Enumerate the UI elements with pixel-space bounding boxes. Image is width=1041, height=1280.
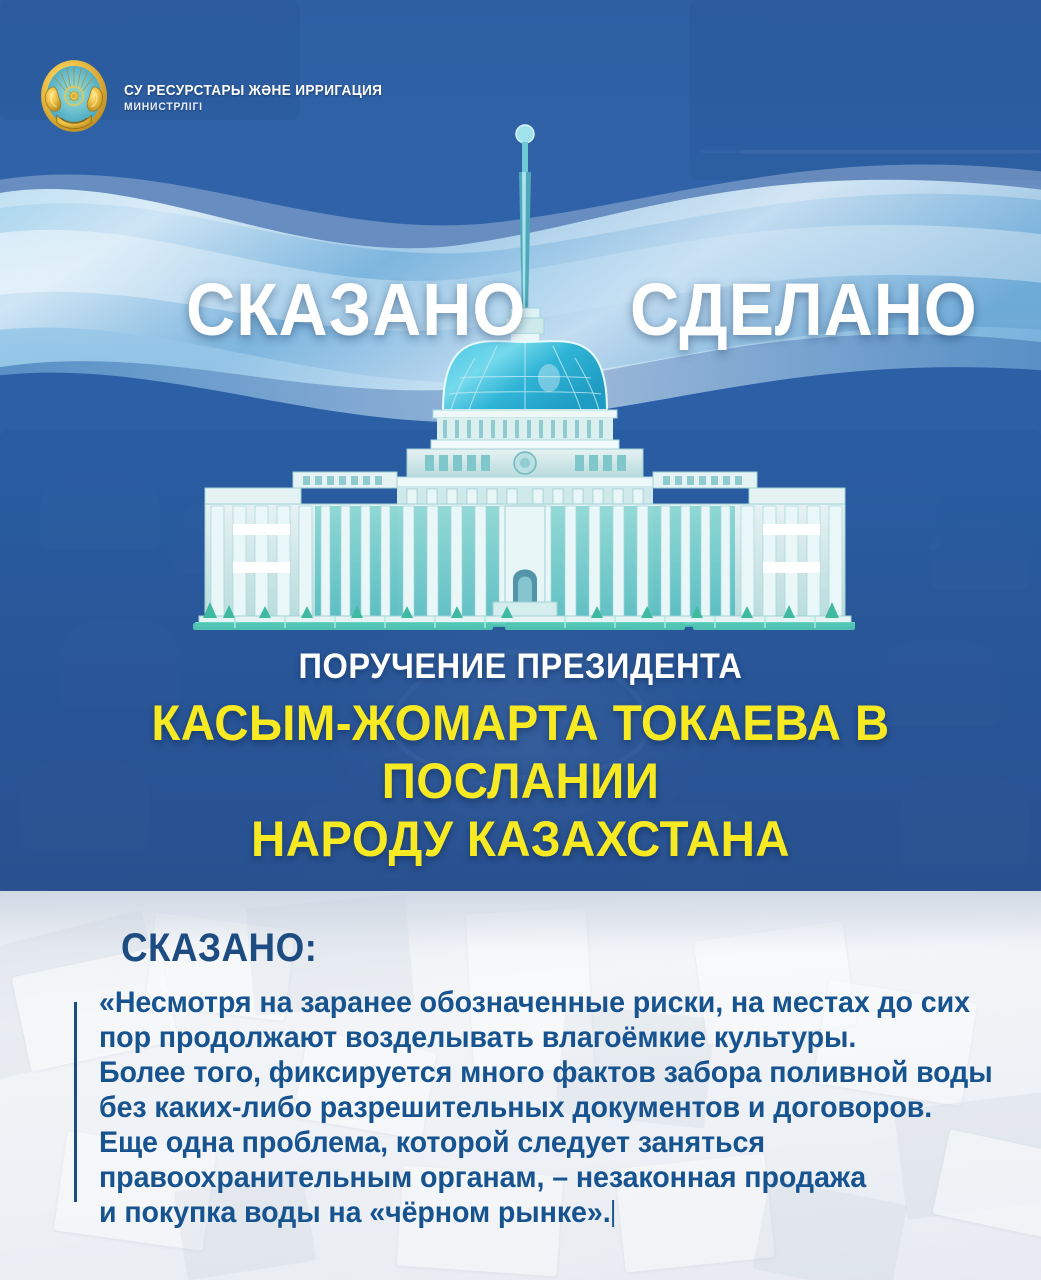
quote-line-last: и покупка воды на «чёрном рынке». xyxy=(99,1195,991,1230)
kazakhstan-coat-of-arms-icon xyxy=(38,58,110,134)
quote-line: без каких-либо разрешительных документов… xyxy=(99,1090,991,1125)
quote-line: пор продолжают возделывать влагоёмкие ку… xyxy=(99,1020,991,1055)
caption-yellow-block: КАСЫМ-ЖОМАРТА ТОКАЕВА В ПОСЛАНИИ НАРОДУ … xyxy=(0,694,1041,868)
quote-line-last-text: и покупка воды на «чёрном рынке». xyxy=(99,1196,611,1229)
caption-top-line: ПОРУЧЕНИЕ ПРЕЗИДЕНТА xyxy=(36,646,1004,688)
quote-heading: СКАЗАНО: xyxy=(121,925,317,971)
top-blue-panel: СУ РЕСУРСТАРЫ ЖӘНЕ ИРРИГАЦИЯ МИНИСТРЛІГІ… xyxy=(0,0,1041,891)
caption-block: ПОРУЧЕНИЕ ПРЕЗИДЕНТА КАСЫМ-ЖОМАРТА ТОКАЕ… xyxy=(0,646,1041,868)
quote-line: Еще одна проблема, которой следует занят… xyxy=(99,1125,991,1160)
akorda-palace-illustration xyxy=(175,110,875,630)
text-caret-icon xyxy=(612,1200,614,1227)
caption-yellow-line2: НАРОДУ КАЗАХСТАНА xyxy=(26,810,1015,868)
quote-text: «Несмотря на заранее обозначенные риски,… xyxy=(99,985,991,1230)
quote-accent-rule xyxy=(74,1002,77,1202)
caption-yellow-line1: КАСЫМ-ЖОМАРТА ТОКАЕВА В ПОСЛАНИИ xyxy=(26,694,1015,810)
quote-line: «Несмотря на заранее обозначенные риски,… xyxy=(99,985,991,1020)
ministry-name-kk: СУ РЕСУРСТАРЫ ЖӘНЕ ИРРИГАЦИЯ xyxy=(124,83,382,99)
quote-line: Более того, фиксируется много фактов заб… xyxy=(99,1055,991,1090)
infographic-poster: СУ РЕСУРСТАРЫ ЖӘНЕ ИРРИГАЦИЯ МИНИСТРЛІГІ… xyxy=(0,0,1041,1280)
quote-line: правоохранительным органам, – незаконная… xyxy=(99,1160,991,1195)
ministry-subtitle-kk: МИНИСТРЛІГІ xyxy=(124,101,382,113)
ministry-logo-lockup: СУ РЕСУРСТАРЫ ЖӘНЕ ИРРИГАЦИЯ МИНИСТРЛІГІ xyxy=(38,58,399,134)
